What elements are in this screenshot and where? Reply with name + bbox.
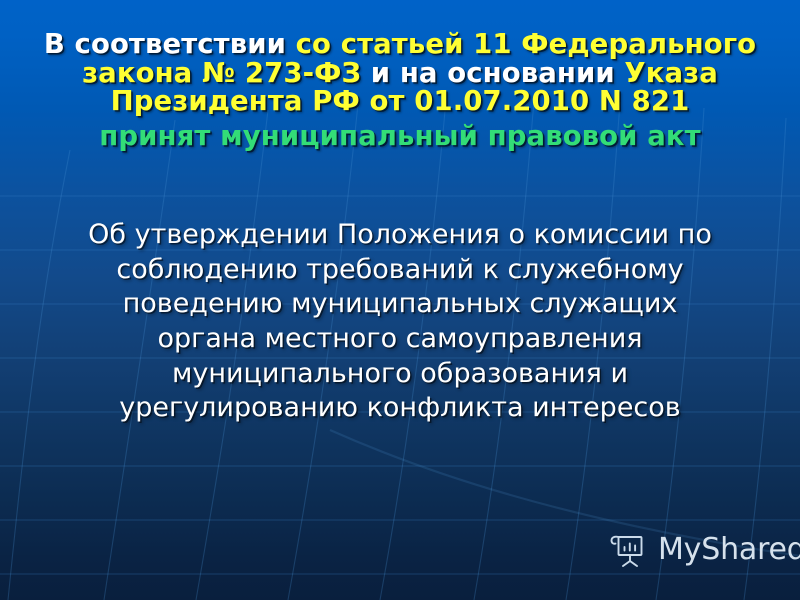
header-seg-yellow-1: со статьей 11 Федерального xyxy=(296,28,757,60)
body-line-6: урегулированию конфликта интересов xyxy=(0,391,800,426)
myshared-watermark: MyShared xyxy=(608,530,800,570)
slide-canvas: В соответствии со статьей 11 Федеральног… xyxy=(0,0,800,600)
presentation-chart-icon xyxy=(608,530,650,570)
header-line-3: Президента РФ от 01.07.2010 N 821 xyxy=(0,87,800,116)
header-seg-green-1: принят муниципальный правовой акт xyxy=(99,120,700,152)
header-line-4: принят муниципальный правовой акт xyxy=(0,122,800,151)
header-text: В соответствии со статьей 11 Федеральног… xyxy=(0,30,800,150)
header-seg-white-1: В соответствии xyxy=(44,28,296,60)
body-line-4: органа местного самоуправления xyxy=(0,322,800,357)
body-line-1: Об утверждении Положения о комиссии по xyxy=(0,218,800,253)
header-seg-yellow-4: Президента РФ от 01.07.2010 N 821 xyxy=(111,85,690,117)
header-line-1: В соответствии со статьей 11 Федеральног… xyxy=(0,30,800,59)
header-seg-white-2: и на основании xyxy=(371,57,625,89)
myshared-label: MyShared xyxy=(658,535,800,565)
header-line-2: закона № 273-ФЗ и на основании Указа xyxy=(0,59,800,88)
body-line-3: поведению муниципальных служащих xyxy=(0,287,800,322)
body-line-5: муниципального образования и xyxy=(0,357,800,392)
header-seg-yellow-3: Указа xyxy=(624,57,717,89)
body-line-2: соблюдению требований к служебному xyxy=(0,253,800,288)
header-seg-yellow-2: закона № 273-ФЗ xyxy=(82,57,371,89)
body-text: Об утверждении Положения о комиссии по с… xyxy=(0,218,800,426)
